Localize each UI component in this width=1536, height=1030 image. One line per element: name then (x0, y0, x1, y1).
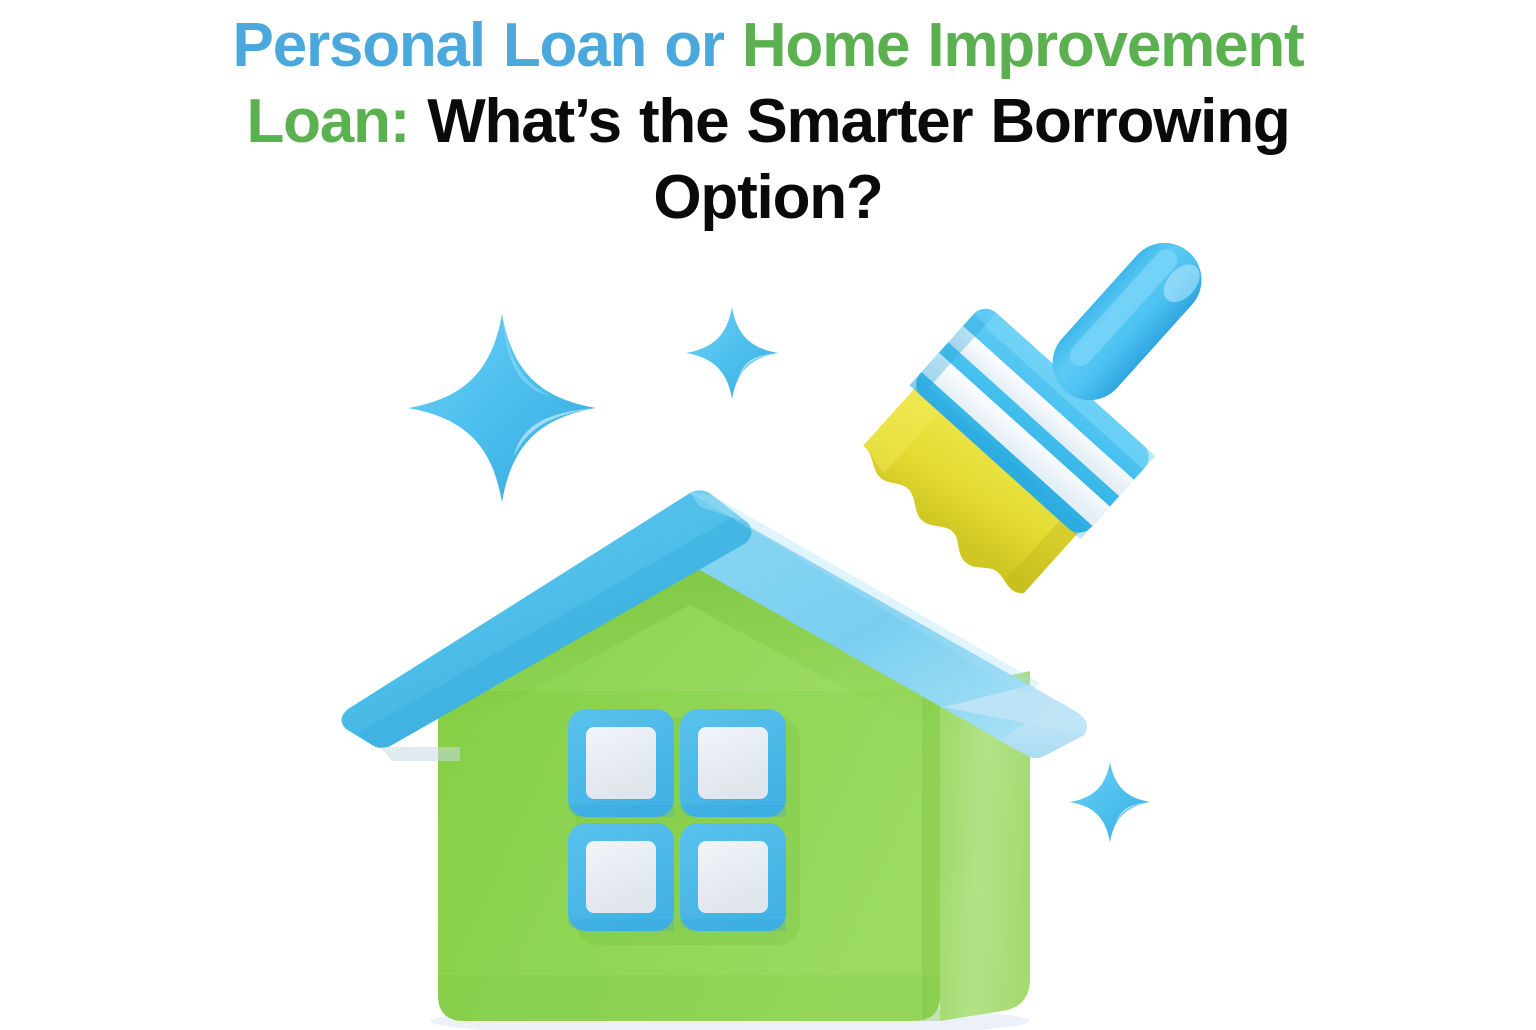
house-window (568, 709, 800, 945)
sparkle-small-icon (684, 305, 780, 401)
headline-text: Personal Loan or Home Improvement Loan: … (0, 8, 1536, 236)
window-pane-bottom-left (568, 823, 674, 931)
brush-handle (1037, 230, 1210, 415)
window-pane-top-left (568, 709, 674, 817)
headline-black-part-1: What’s the (409, 87, 728, 156)
window-pane-bottom-right (680, 823, 786, 931)
headline-blue-part: Personal Loan or (233, 11, 742, 80)
headline-black-part-2: Smarter Borrowing Option? (653, 87, 1289, 232)
headline-green-word-home: Home (742, 11, 909, 80)
window-pane-top-right (680, 709, 786, 817)
house-illustration (340, 455, 1130, 1030)
page-title: Personal Loan or Home Improvement Loan: … (0, 8, 1536, 236)
